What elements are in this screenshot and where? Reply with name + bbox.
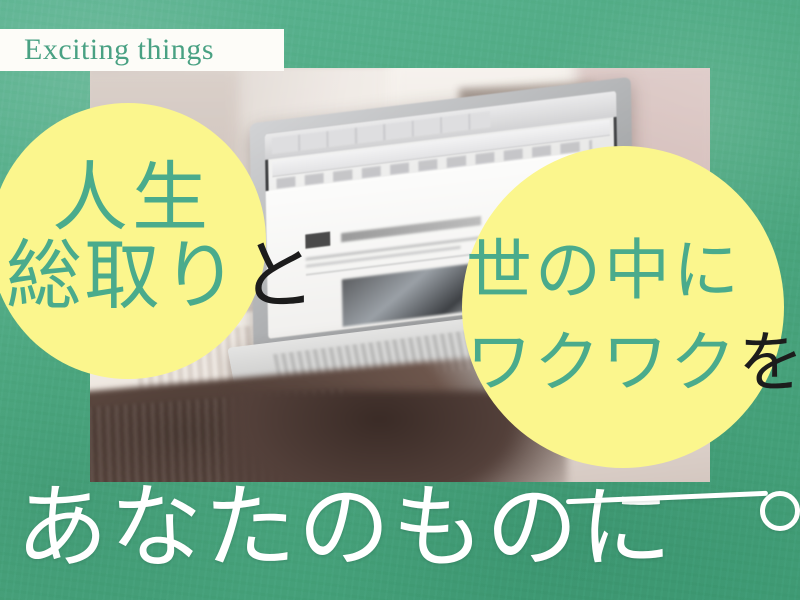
headline-line-1: 人生 [52,160,212,236]
headline-line-2-green: 総取り [6,231,240,320]
headline-line-5: あなたのものに [16,482,674,574]
banner-canvas: Exciting things 人生 総取りと 世の中に ワクワクを あなたのも… [0,0,800,600]
headline-line-4: ワクワクを [466,330,800,396]
headline-period-mark [760,491,800,531]
headline-line-2-dark: と [240,231,318,320]
eyebrow-label: Exciting things [24,30,214,70]
headline-line-4-dark: を [738,324,800,401]
headline-line-3: 世の中に [466,238,742,304]
headline-line-4-green: ワクワク [466,324,738,401]
headline-line-2: 総取りと [6,238,318,314]
